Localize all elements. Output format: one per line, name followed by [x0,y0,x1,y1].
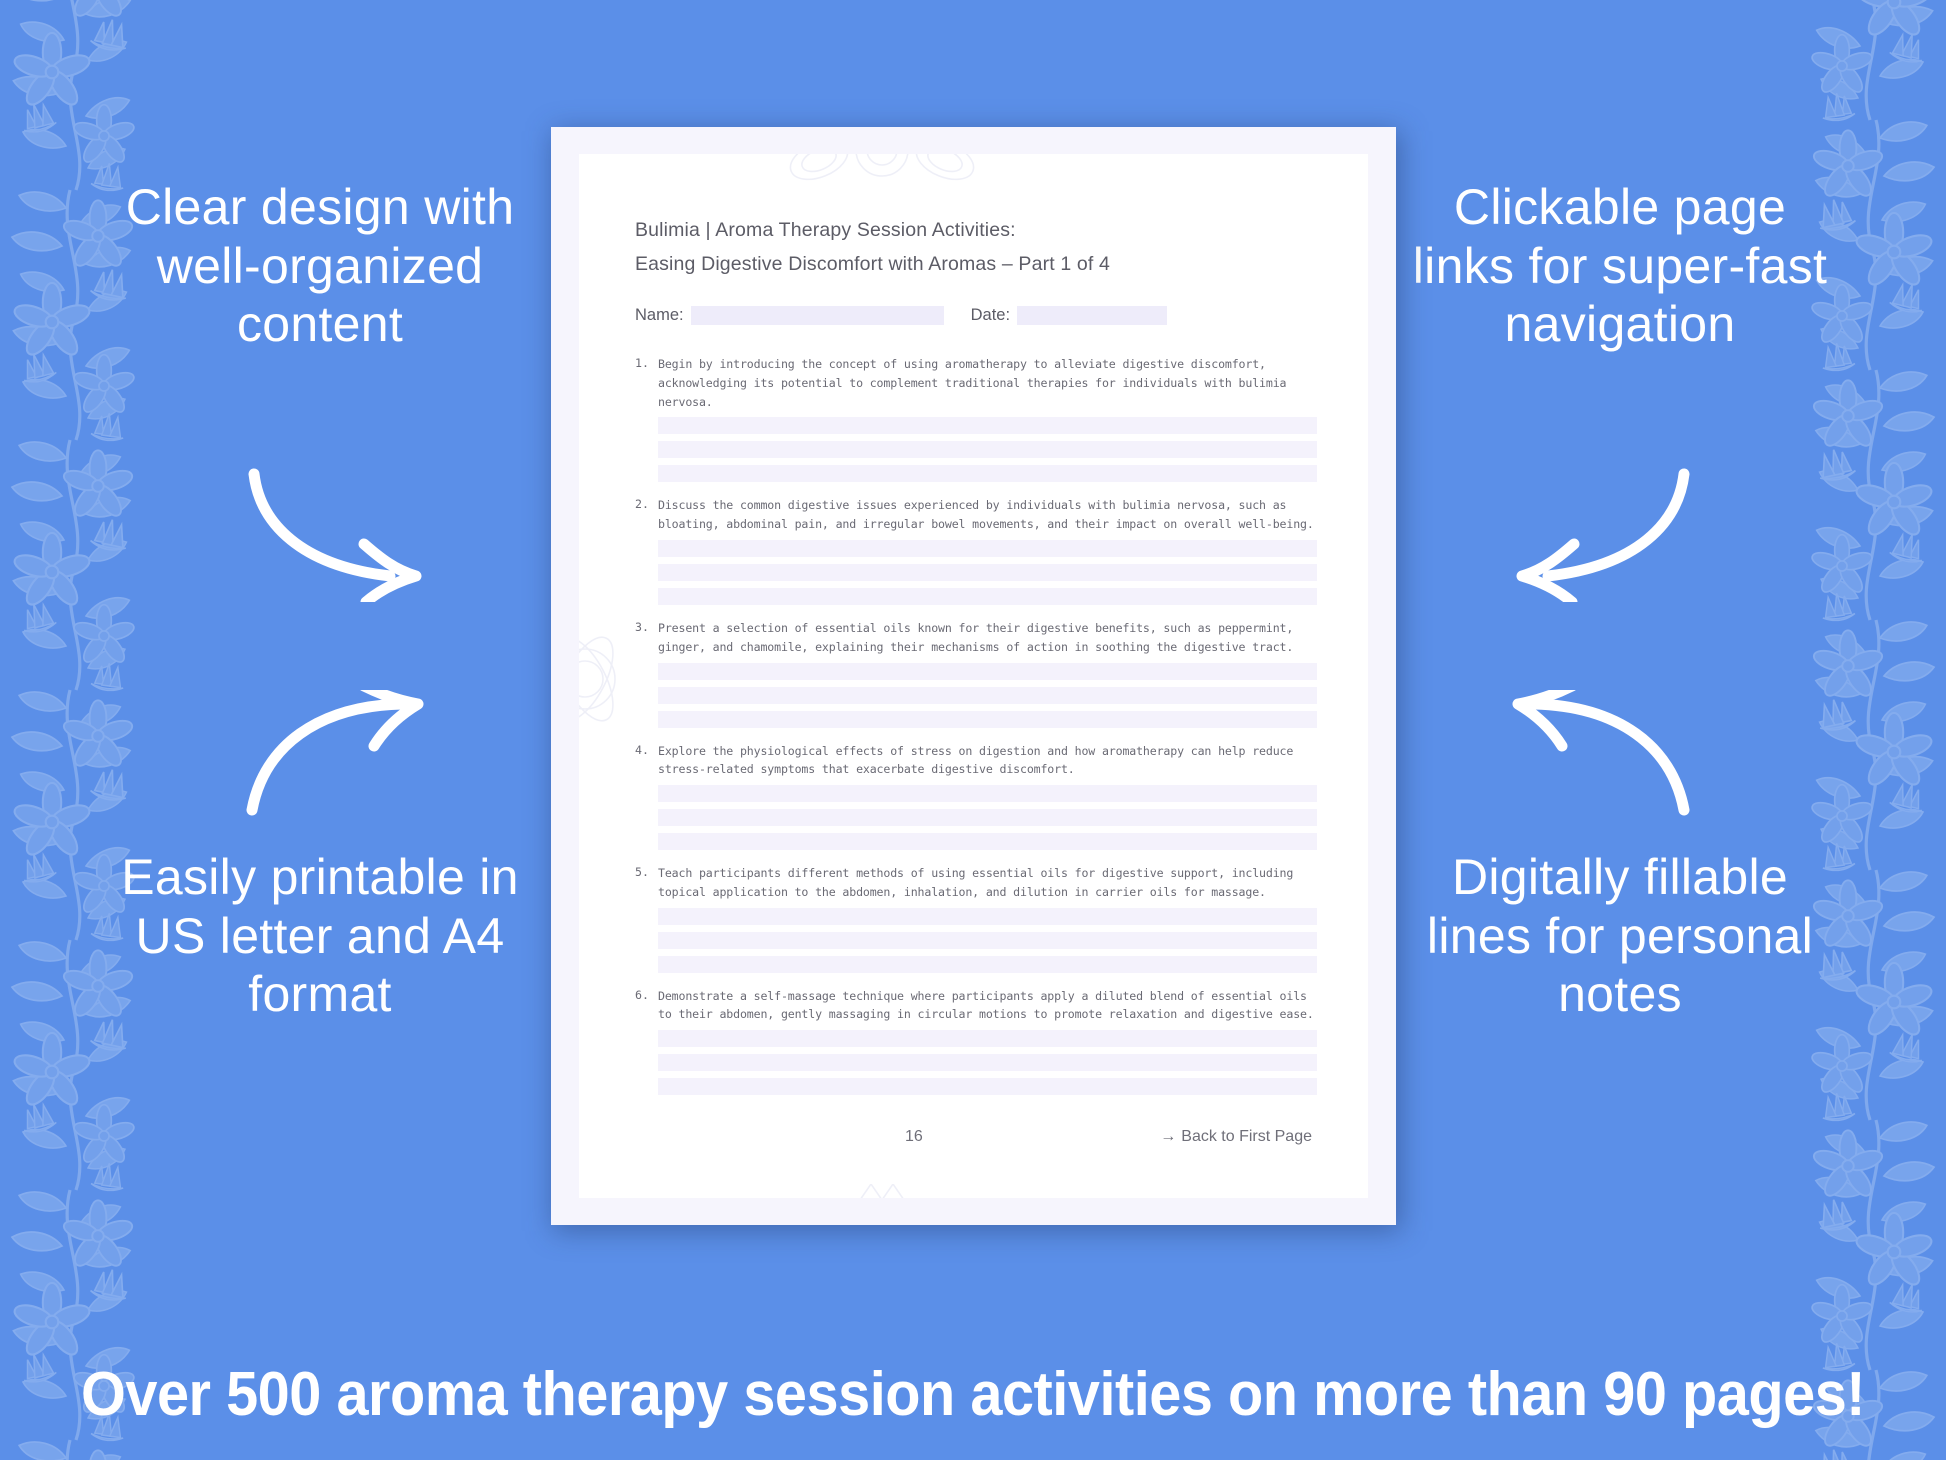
activity-answer-lines [658,908,1317,973]
activity-item: Explore the physiological effects of str… [635,742,1317,851]
fillable-line[interactable] [658,711,1317,728]
worksheet-title-line1: Bulimia | Aroma Therapy Session Activiti… [635,214,1317,248]
back-to-first-page-link[interactable]: →Back to First Page [1160,1128,1312,1146]
activity-text: Begin by introducing the concept of usin… [658,355,1317,411]
activity-item: Discuss the common digestive issues expe… [635,496,1317,605]
name-label: Name: [635,306,684,325]
activity-answer-lines [658,785,1317,850]
promo-banner-text: Over 500 aroma therapy session activitie… [68,1359,1878,1430]
fillable-line[interactable] [658,540,1317,557]
activity-answer-lines [658,540,1317,605]
fillable-line[interactable] [658,956,1317,973]
fillable-line[interactable] [658,564,1317,581]
activity-answer-lines [658,417,1317,482]
fillable-line[interactable] [658,417,1317,434]
fillable-line[interactable] [658,785,1317,802]
worksheet-page-preview: Bulimia | Aroma Therapy Session Activiti… [551,127,1396,1225]
fillable-line[interactable] [658,1054,1317,1071]
caption-digitally-fillable-lines: Digitally fillable lines for personal no… [1410,848,1830,1024]
caption-easily-printable: Easily printable in US letter and A4 for… [110,848,530,1024]
caption-clickable-page-links: Clickable page links for super-fast navi… [1410,178,1830,354]
fillable-line[interactable] [658,1078,1317,1095]
fillable-line[interactable] [658,932,1317,949]
fillable-line[interactable] [658,908,1317,925]
activity-item: Demonstrate a self-massage technique whe… [635,987,1317,1096]
activity-text: Demonstrate a self-massage technique whe… [658,987,1317,1025]
activity-item: Present a selection of essential oils kn… [635,619,1317,728]
activity-item: Begin by introducing the concept of usin… [635,355,1317,482]
fillable-line[interactable] [658,588,1317,605]
name-date-row: Name: Date: [635,306,1317,325]
fillable-line[interactable] [658,1030,1317,1047]
date-label: Date: [971,306,1010,325]
name-input[interactable] [691,306,944,325]
mandala-watermark-bottom-icon [747,1184,1017,1198]
fillable-line[interactable] [658,663,1317,680]
fillable-line[interactable] [658,465,1317,482]
back-to-first-page-label: Back to First Page [1181,1128,1312,1145]
activity-text: Present a selection of essential oils kn… [658,619,1317,657]
fillable-line[interactable] [658,687,1317,704]
activity-answer-lines [658,1030,1317,1095]
arrow-right-icon: → [1160,1128,1176,1145]
activity-text: Explore the physiological effects of str… [658,742,1317,780]
worksheet-page-inner: Bulimia | Aroma Therapy Session Activiti… [579,154,1368,1198]
fillable-line[interactable] [658,441,1317,458]
activity-item: Teach participants different methods of … [635,864,1317,973]
activity-text: Discuss the common digestive issues expe… [658,496,1317,534]
date-input[interactable] [1017,306,1167,325]
fillable-line[interactable] [658,833,1317,850]
activity-answer-lines [658,663,1317,728]
curved-arrow-icon-top-left [240,462,460,602]
curved-arrow-icon-bottom-left [238,690,458,820]
page-number: 16 [905,1128,923,1146]
activity-list: Begin by introducing the concept of usin… [635,355,1317,1095]
worksheet-footer: 16 →Back to First Page [635,1128,1312,1146]
activity-text: Teach participants different methods of … [658,864,1317,902]
curved-arrow-icon-top-right [1478,462,1698,602]
product-listing-image: Clear design with well-organized content… [0,0,1946,1460]
mandala-watermark-top-icon [747,154,1017,218]
curved-arrow-icon-bottom-right [1478,690,1698,820]
mandala-watermark-right-icon [1357,609,1368,749]
fillable-line[interactable] [658,809,1317,826]
worksheet-title-line2: Easing Digestive Discomfort with Aromas … [635,248,1317,282]
worksheet-content: Bulimia | Aroma Therapy Session Activiti… [635,214,1317,1109]
caption-clear-design: Clear design with well-organized content [110,178,530,354]
